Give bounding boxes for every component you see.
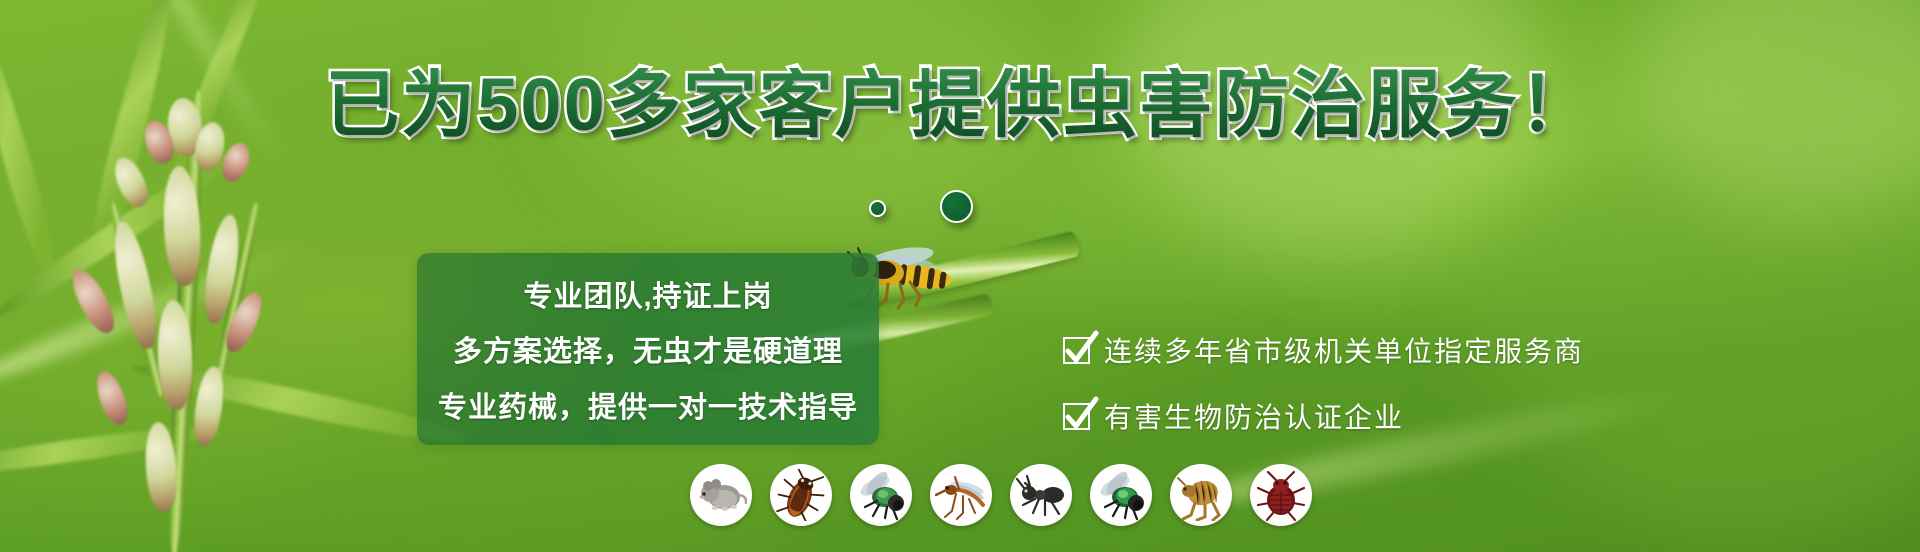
flower-bud [220, 288, 268, 356]
feature-line-1: 专业团队,持证上岗 [523, 273, 772, 315]
ant-icon[interactable] [1010, 464, 1072, 526]
plant-stem [164, 90, 209, 552]
checklist-item-label: 有害生物防治认证企业 [1104, 396, 1404, 436]
rodent-icon[interactable] [690, 464, 752, 526]
checklist-item: 连续多年省市级机关单位指定服务商 [1063, 330, 1584, 370]
leaf [0, 419, 220, 483]
decor-dot-small [869, 200, 886, 217]
flower-bud [91, 368, 133, 429]
feature-line-3: 专业药械，提供一对一技术指导 [438, 384, 858, 426]
fly-icon[interactable] [850, 464, 912, 526]
cockroach-icon[interactable] [770, 464, 832, 526]
flower-bud [218, 139, 254, 185]
decor-dot-large [940, 190, 973, 223]
flower-bud [191, 365, 228, 448]
blurred-leaf-blade [0, 234, 312, 393]
plant-stem [210, 201, 262, 390]
flower-bud [143, 421, 179, 513]
blowfly-icon[interactable] [1090, 464, 1152, 526]
feature-line-2: 多方案选择，无虫才是硬道理 [453, 328, 843, 370]
leaf [0, 138, 251, 326]
checkbox-check-icon [1063, 337, 1090, 364]
features-panel-text: 专业团队,持证上岗 多方案选择，无虫才是硬道理 专业药械，提供一对一技术指导 [417, 253, 879, 445]
mosquito-icon[interactable] [930, 464, 992, 526]
bedbug-icon[interactable] [1250, 464, 1312, 526]
pest-type-strip [690, 464, 1312, 526]
page-title: 已为500多家客户提供虫害防治服务！ [0, 68, 1920, 142]
checklist-item-label: 连续多年省市级机关单位指定服务商 [1104, 330, 1584, 370]
flower-bud [109, 153, 154, 211]
pest-control-hero-banner: 已为500多家客户提供虫害防治服务！ 已为500多家客户提供虫害防治服务！ 专业… [0, 0, 1920, 552]
certification-checklist: 连续多年省市级机关单位指定服务商 有害生物防治认证企业 [1063, 330, 1584, 436]
flea-icon[interactable] [1170, 464, 1232, 526]
checklist-item: 有害生物防治认证企业 [1063, 396, 1584, 436]
checkbox-check-icon [1063, 403, 1090, 430]
flower-bud [161, 165, 203, 287]
